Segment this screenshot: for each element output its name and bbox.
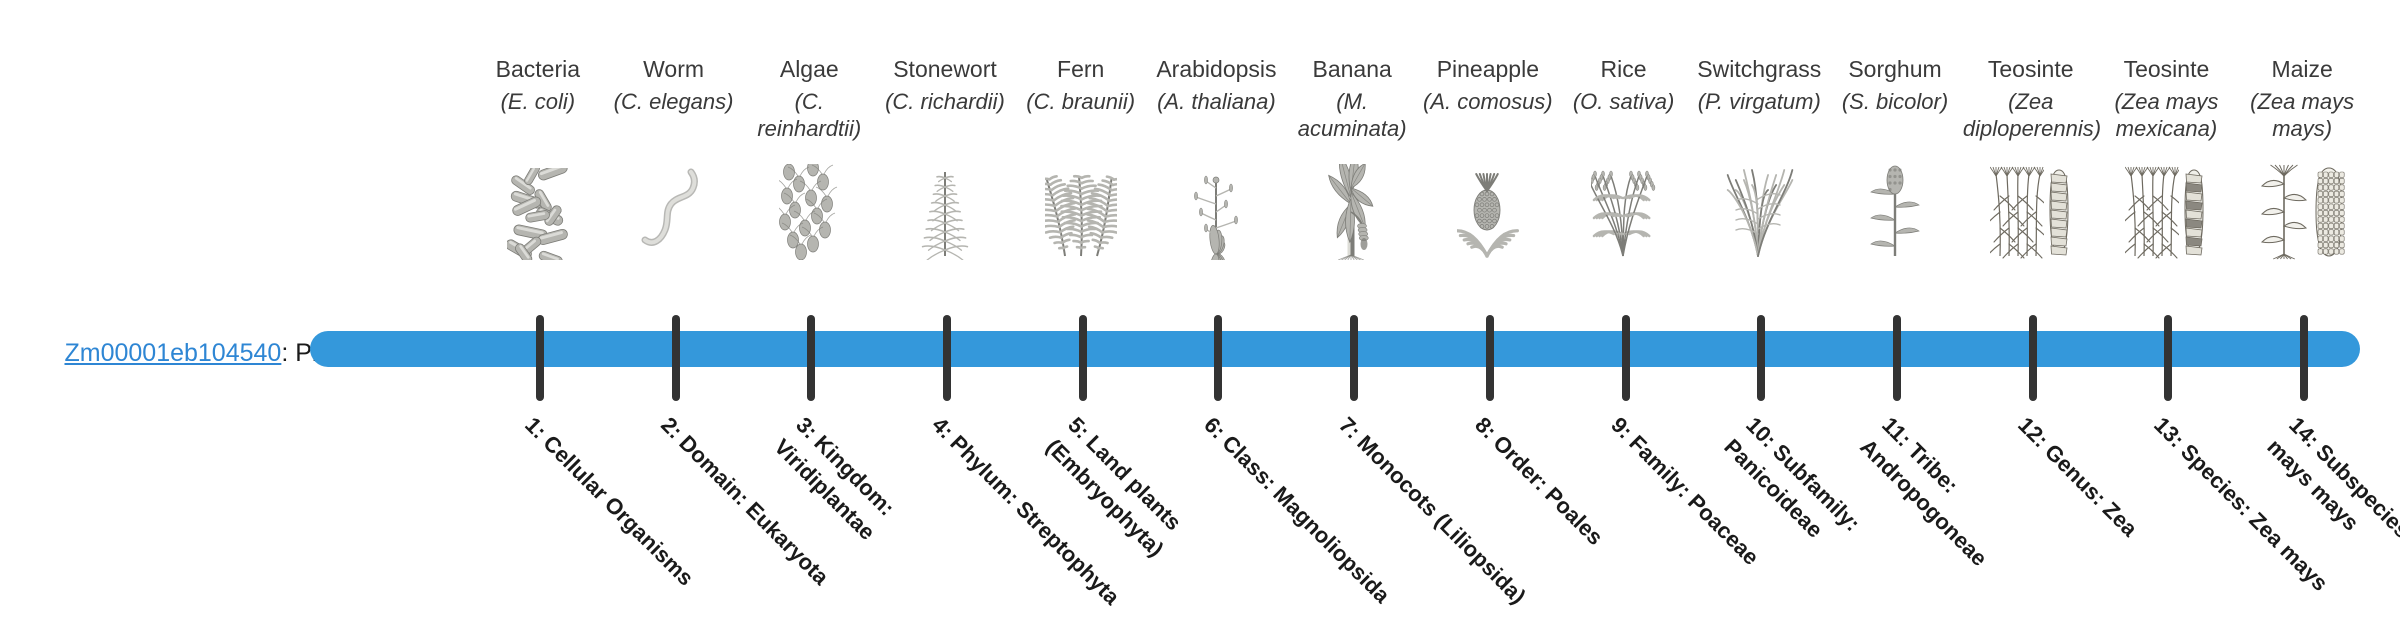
species-scientific-name: (C. elegans) — [606, 88, 742, 115]
maize-illustration — [2234, 168, 2370, 260]
species-column: Teosinte(Zea mays mexicana)13: Species: … — [2099, 0, 2235, 580]
node-tick[interactable] — [1622, 315, 1630, 401]
sorghum-illustration — [1827, 168, 1963, 260]
node-tick[interactable] — [943, 315, 951, 401]
switchgrass-illustration — [1691, 168, 1827, 260]
species-header: Teosinte(Zea mays mexicana) — [2099, 54, 2235, 142]
species-scientific-name: (C. richardii) — [877, 88, 1013, 115]
species-common-name: Worm — [606, 54, 742, 84]
teosinte-diploperennis-illustration — [1963, 168, 2099, 260]
species-header: Algae(C. reinhardtii) — [741, 54, 877, 142]
species-scientific-name: (A. comosus) — [1420, 88, 1556, 115]
node-tick[interactable] — [536, 315, 544, 401]
species-scientific-name: (Zea mays mays) — [2234, 88, 2370, 142]
node-tick[interactable] — [2029, 315, 2037, 401]
row-separator: : — [281, 339, 295, 367]
species-columns: Bacteria(E. coli)1: Cellular OrganismsWo… — [470, 0, 2370, 580]
species-common-name: Algae — [741, 54, 877, 84]
worm-illustration — [606, 168, 742, 260]
species-scientific-name: (O. sativa) — [1556, 88, 1692, 115]
species-common-name: Stonewort — [877, 54, 1013, 84]
species-column: Bacteria(E. coli)1: Cellular Organisms — [470, 0, 606, 580]
species-header: Bacteria(E. coli) — [470, 54, 606, 115]
species-common-name: Pineapple — [1420, 54, 1556, 84]
species-common-name: Teosinte — [2099, 54, 2235, 84]
phylostratigraphy-figure: Zm00001eb104540: Phylostratum 1 Bacteria… — [0, 0, 2400, 580]
species-column: Worm(C. elegans)2: Domain: Eukaryota — [606, 0, 742, 580]
species-common-name: Bacteria — [470, 54, 606, 84]
species-column: Algae(C. reinhardtii)3: Kingdom: Viridip… — [741, 0, 877, 580]
species-scientific-name: (M. acuminata) — [1284, 88, 1420, 142]
species-common-name: Fern — [1013, 54, 1149, 84]
species-common-name: Maize — [2234, 54, 2370, 84]
species-column: Fern(C. braunii)5: Land plants (Embryoph… — [1013, 0, 1149, 580]
banana-illustration — [1284, 168, 1420, 260]
species-header: Pineapple(A. comosus) — [1420, 54, 1556, 115]
species-scientific-name: (S. bicolor) — [1827, 88, 1963, 115]
species-header: Banana(M. acuminata) — [1284, 54, 1420, 142]
species-column: Maize(Zea mays mays)14: Subspecies: Zea … — [2234, 0, 2370, 580]
species-column: Arabidopsis(A. thaliana)6: Class: Magnol… — [1149, 0, 1285, 580]
species-common-name: Banana — [1284, 54, 1420, 84]
species-column: Sorghum(S. bicolor)11: Tribe: Andropogon… — [1827, 0, 1963, 580]
species-header: Worm(C. elegans) — [606, 54, 742, 115]
species-scientific-name: (E. coli) — [470, 88, 606, 115]
node-tick[interactable] — [1079, 315, 1087, 401]
arabidopsis-illustration — [1149, 168, 1285, 260]
species-header: Arabidopsis(A. thaliana) — [1149, 54, 1285, 115]
species-column: Stonewort(C. richardii)4: Phylum: Strept… — [877, 0, 1013, 580]
species-header: Fern(C. braunii) — [1013, 54, 1149, 115]
species-scientific-name: (C. braunii) — [1013, 88, 1149, 115]
species-scientific-name: (Zea diploperennis) — [1963, 88, 2099, 142]
species-header: Switchgrass(P. virgatum) — [1691, 54, 1827, 115]
species-column: Banana(M. acuminata)7: Monocots (Liliops… — [1284, 0, 1420, 580]
species-common-name: Rice — [1556, 54, 1692, 84]
species-header: Stonewort(C. richardii) — [877, 54, 1013, 115]
teosinte-mexicana-illustration — [2099, 168, 2235, 260]
species-header: Sorghum(S. bicolor) — [1827, 54, 1963, 115]
bacteria-illustration — [470, 168, 606, 260]
stonewort-illustration — [877, 168, 1013, 260]
species-common-name: Switchgrass — [1691, 54, 1827, 84]
species-common-name: Sorghum — [1827, 54, 1963, 84]
species-column: Pineapple(A. comosus)8: Order: Poales — [1420, 0, 1556, 580]
species-header: Teosinte(Zea diploperennis) — [1963, 54, 2099, 142]
node-tick[interactable] — [1350, 315, 1358, 401]
species-column: Teosinte(Zea diploperennis)12: Genus: Ze… — [1963, 0, 2099, 580]
species-common-name: Teosinte — [1963, 54, 2099, 84]
species-header: Maize(Zea mays mays) — [2234, 54, 2370, 142]
species-common-name: Arabidopsis — [1149, 54, 1285, 84]
pineapple-illustration — [1420, 168, 1556, 260]
species-column: Switchgrass(P. virgatum)10: Subfamily: P… — [1691, 0, 1827, 580]
species-scientific-name: (Zea mays mexicana) — [2099, 88, 2235, 142]
node-tick[interactable] — [1486, 315, 1494, 401]
node-tick[interactable] — [1893, 315, 1901, 401]
gene-id-link[interactable]: Zm00001eb104540 — [64, 339, 281, 367]
species-scientific-name: (C. reinhardtii) — [741, 88, 877, 142]
node-tick[interactable] — [807, 315, 815, 401]
node-tick[interactable] — [1214, 315, 1222, 401]
node-tick[interactable] — [2300, 315, 2308, 401]
node-tick[interactable] — [1757, 315, 1765, 401]
species-header: Rice(O. sativa) — [1556, 54, 1692, 115]
node-tick[interactable] — [672, 315, 680, 401]
fern-illustration — [1013, 168, 1149, 260]
species-scientific-name: (A. thaliana) — [1149, 88, 1285, 115]
species-scientific-name: (P. virgatum) — [1691, 88, 1827, 115]
node-tick[interactable] — [2164, 315, 2172, 401]
rice-illustration — [1556, 168, 1692, 260]
algae-illustration — [741, 168, 877, 260]
species-column: Rice(O. sativa)9: Family: Poaceae — [1556, 0, 1692, 580]
